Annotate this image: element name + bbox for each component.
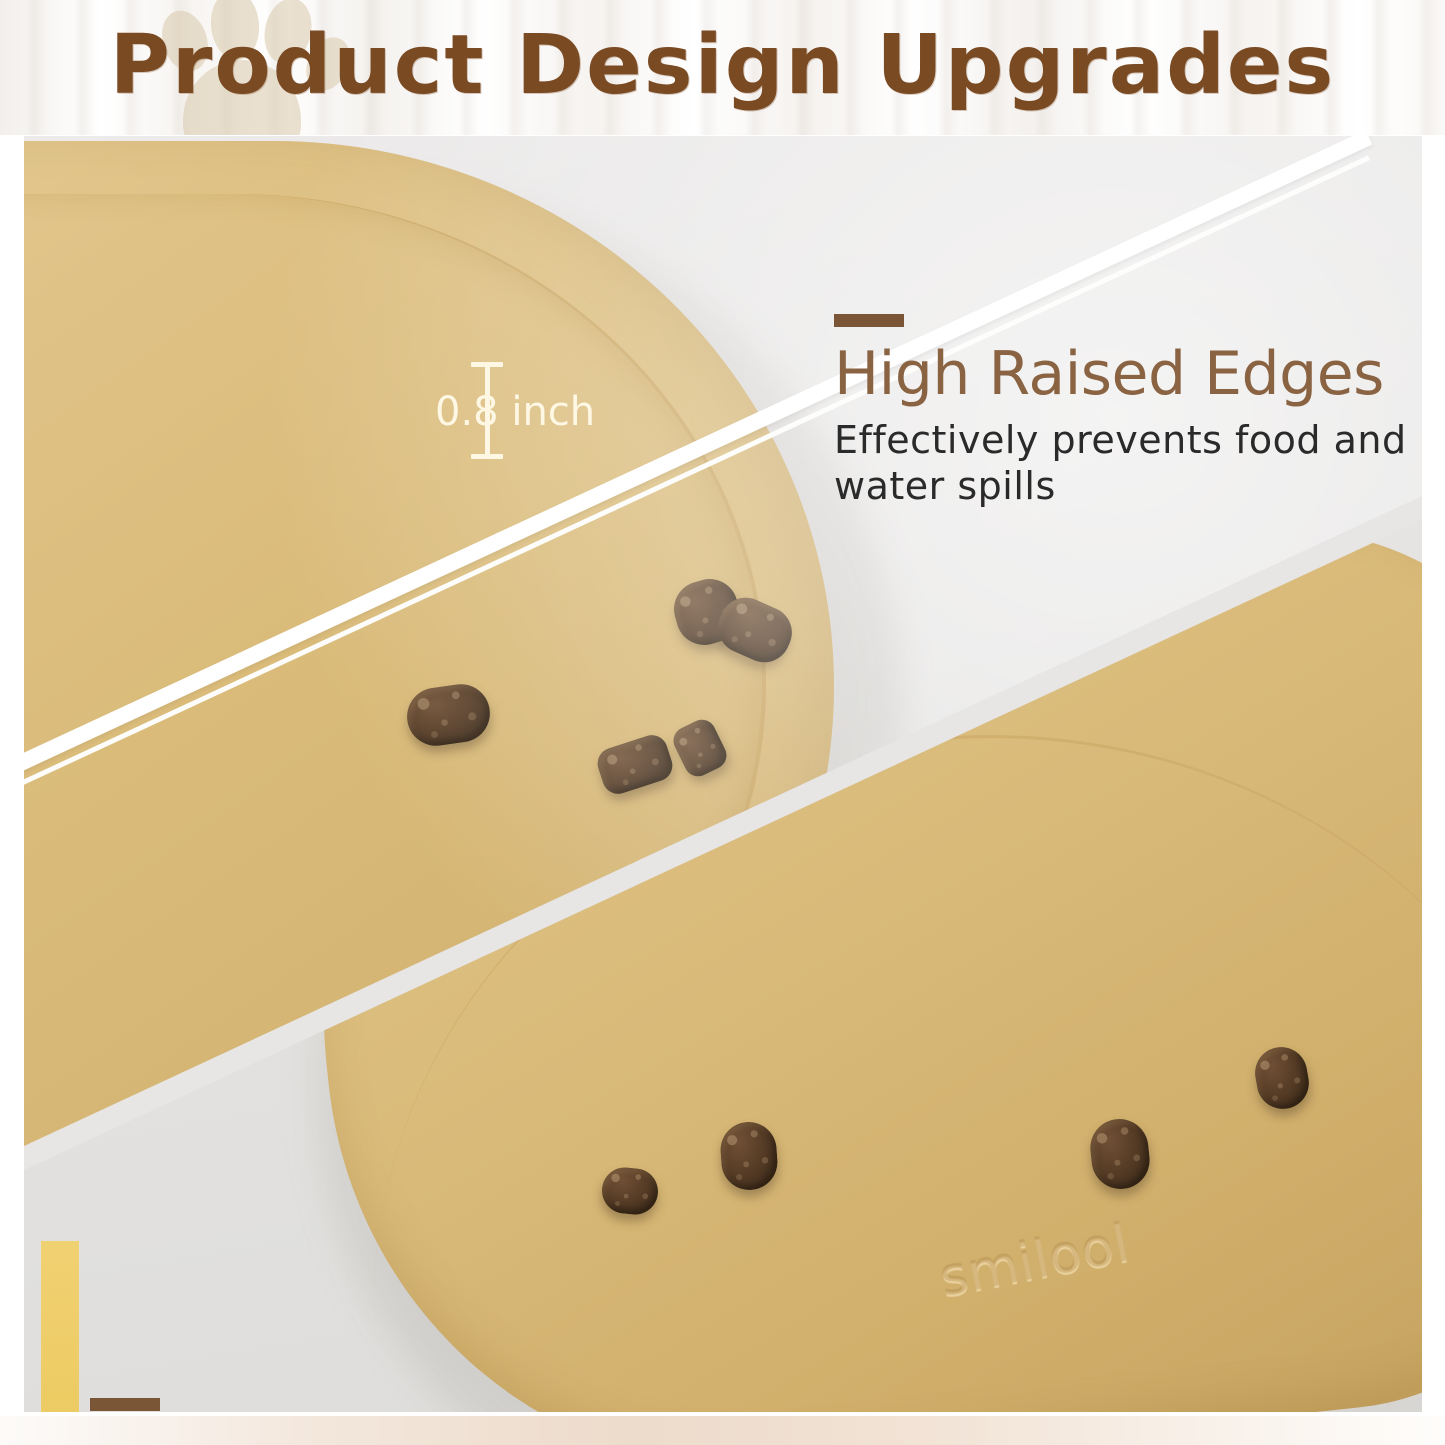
accent-dash-icon [834,314,904,327]
panel-gutter-left [0,135,24,1417]
kibble-piece [710,589,800,670]
feature-subtext: Effectively prevents food and water spil… [834,417,1414,509]
kibble-piece [403,681,493,750]
bottom-background-strip [0,1416,1445,1445]
infographic-root: Product Design Upgrades smilool [0,0,1445,1445]
accent-bar-left [41,1241,79,1416]
kibble-piece [669,715,731,781]
accent-dash-icon [90,1398,160,1411]
panel-gutter-right [1422,135,1445,1417]
kibble-piece [594,731,677,798]
feature-heading: High Raised Edges [834,341,1414,407]
feature-high-raised-edges: High Raised Edges Effectively prevents f… [834,314,1414,509]
page-title: Product Design Upgrades [0,0,1445,135]
kibble-piece [667,572,746,651]
product-photo-panel: smilool 0.8 inch High Raised Edges Effec… [24,136,1422,1416]
header-banner: Product Design Upgrades [0,0,1445,135]
